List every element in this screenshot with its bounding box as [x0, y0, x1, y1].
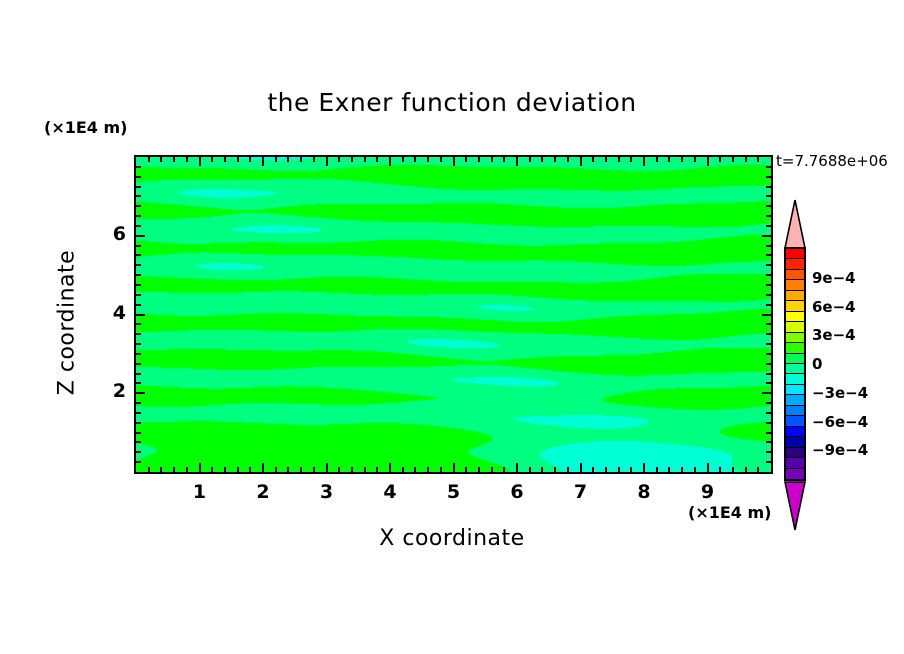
- x-tick-minor: [402, 467, 404, 472]
- x-tick-minor: [541, 467, 543, 472]
- y-tick-minor: [136, 176, 141, 178]
- y-tick-minor: [136, 205, 141, 207]
- colorbar-band: [786, 291, 804, 301]
- x-tick-top-minor: [275, 157, 277, 162]
- y-tick-minor: [136, 432, 141, 434]
- x-tick-label: 1: [185, 481, 215, 503]
- y-tick-right-minor: [766, 373, 771, 375]
- x-tick-minor: [364, 467, 366, 472]
- y-tick-minor: [136, 451, 141, 453]
- colorbar-tick-label: −3e−4: [812, 384, 868, 402]
- colorbar-band: [786, 374, 804, 384]
- x-tick-top-minor: [237, 157, 239, 162]
- y-tick-minor: [136, 294, 141, 296]
- x-tick-minor: [160, 467, 162, 472]
- x-tick-minor: [211, 467, 213, 472]
- x-tick-minor: [757, 467, 759, 472]
- colorbar-band: [786, 469, 804, 479]
- x-tick-major: [707, 463, 709, 472]
- x-tick-minor: [554, 467, 556, 472]
- x-tick-minor: [224, 467, 226, 472]
- y-tick-right-minor: [766, 461, 771, 463]
- x-tick-top-minor: [173, 157, 175, 162]
- x-tick-top-minor: [313, 157, 315, 162]
- x-tick-top-minor: [567, 157, 569, 162]
- x-tick-top-minor: [719, 157, 721, 162]
- y-tick-minor: [136, 353, 141, 355]
- colorbar-band: [786, 343, 804, 353]
- x-tick-top-minor: [402, 157, 404, 162]
- x-tick-major: [199, 463, 201, 472]
- y-tick-minor: [136, 363, 141, 365]
- x-tick-label: 4: [375, 481, 405, 503]
- y-tick-minor: [136, 441, 141, 443]
- x-tick-major: [516, 463, 518, 472]
- x-tick-top-major: [199, 157, 201, 166]
- colorbar-over-arrow-icon: [784, 199, 806, 249]
- colorbar-band: [786, 301, 804, 311]
- x-tick-top-minor: [440, 157, 442, 162]
- y-tick-right-minor: [766, 254, 771, 256]
- y-tick-right-minor: [766, 333, 771, 335]
- y-tick-minor: [136, 333, 141, 335]
- x-tick-top-minor: [592, 157, 594, 162]
- x-tick-minor: [719, 467, 721, 472]
- x-tick-minor: [173, 467, 175, 472]
- colorbar-band: [786, 437, 804, 447]
- y-tick-major: [136, 392, 145, 394]
- x-tick-top-minor: [529, 157, 531, 162]
- x-tick-minor: [529, 467, 531, 472]
- x-tick-top-major: [326, 157, 328, 166]
- colorbar-tick-label: 3e−4: [812, 326, 856, 344]
- colorbar-tick-label: −6e−4: [812, 413, 868, 431]
- colorbar-band: [786, 259, 804, 269]
- y-tick-minor: [136, 422, 141, 424]
- x-tick-minor: [605, 467, 607, 472]
- colorbar-under-arrow-icon: [784, 479, 806, 531]
- colorbar-tick-label: 9e−4: [812, 269, 856, 287]
- x-tick-top-minor: [745, 157, 747, 162]
- time-annotation: t=7.7688e+06: [776, 152, 888, 170]
- x-tick-top-minor: [668, 157, 670, 162]
- y-tick-minor: [136, 186, 141, 188]
- colorbar-band: [786, 249, 804, 259]
- x-tick-minor: [148, 467, 150, 472]
- x-tick-minor: [618, 467, 620, 472]
- x-tick-minor: [681, 467, 683, 472]
- x-tick-minor: [287, 467, 289, 472]
- x-axis-title: X coordinate: [0, 526, 904, 551]
- x-tick-minor: [186, 467, 188, 472]
- x-tick-minor: [592, 467, 594, 472]
- y-tick-minor: [136, 323, 141, 325]
- x-tick-top-minor: [694, 157, 696, 162]
- y-tick-right-minor: [766, 215, 771, 217]
- y-tick-right-minor: [766, 343, 771, 345]
- x-tick-top-major: [516, 157, 518, 166]
- x-tick-top-minor: [300, 157, 302, 162]
- x-tick-top-minor: [503, 157, 505, 162]
- x-tick-major: [389, 463, 391, 472]
- x-tick-top-major: [389, 157, 391, 166]
- x-tick-minor: [300, 467, 302, 472]
- y-tick-right-minor: [766, 294, 771, 296]
- colorbar-tick-label: 0: [812, 355, 822, 373]
- y-tick-minor: [136, 284, 141, 286]
- y-tick-right-minor: [766, 441, 771, 443]
- x-tick-minor: [465, 467, 467, 472]
- y-tick-label: 6: [100, 223, 126, 245]
- x-tick-minor: [478, 467, 480, 472]
- y-tick-minor: [136, 264, 141, 266]
- x-tick-top-minor: [160, 157, 162, 162]
- y-axis-title: Z coordinate: [55, 213, 80, 433]
- x-tick-top-minor: [351, 157, 353, 162]
- y-tick-right-minor: [766, 245, 771, 247]
- x-tick-minor: [249, 467, 251, 472]
- x-tick-top-minor: [541, 157, 543, 162]
- y-tick-right-minor: [766, 451, 771, 453]
- x-tick-minor: [656, 467, 658, 472]
- colorbar-band: [786, 448, 804, 458]
- y-tick-right-minor: [766, 353, 771, 355]
- colorbar-tick-label: −9e−4: [812, 441, 868, 459]
- x-tick-top-minor: [376, 157, 378, 162]
- colorbar-band: [786, 458, 804, 468]
- x-tick-minor: [732, 467, 734, 472]
- y-tick-minor: [136, 254, 141, 256]
- y-tick-right-minor: [766, 225, 771, 227]
- x-tick-major: [580, 463, 582, 472]
- y-tick-right-minor: [766, 195, 771, 197]
- x-tick-top-minor: [605, 157, 607, 162]
- x-tick-minor: [745, 467, 747, 472]
- y-tick-right-major: [762, 314, 771, 316]
- y-axis-units-label: (×1E4 m): [44, 118, 127, 137]
- y-tick-right-minor: [766, 205, 771, 207]
- y-tick-right-minor: [766, 284, 771, 286]
- x-tick-top-minor: [249, 157, 251, 162]
- y-tick-right-minor: [766, 176, 771, 178]
- x-tick-top-minor: [478, 157, 480, 162]
- x-tick-minor: [338, 467, 340, 472]
- page-title: the Exner function deviation: [0, 88, 904, 117]
- x-tick-top-major: [580, 157, 582, 166]
- y-tick-minor: [136, 274, 141, 276]
- colorbar-band: [786, 364, 804, 374]
- y-tick-right-minor: [766, 412, 771, 414]
- x-tick-top-major: [262, 157, 264, 166]
- y-tick-right-minor: [766, 402, 771, 404]
- y-tick-minor: [136, 461, 141, 463]
- x-tick-top-minor: [414, 157, 416, 162]
- x-tick-label: 7: [566, 481, 596, 503]
- y-tick-right-minor: [766, 186, 771, 188]
- x-tick-top-minor: [148, 157, 150, 162]
- x-tick-top-minor: [465, 157, 467, 162]
- colorbar-band: [786, 385, 804, 395]
- x-tick-top-minor: [287, 157, 289, 162]
- x-tick-minor: [237, 467, 239, 472]
- y-tick-right-minor: [766, 264, 771, 266]
- x-tick-top-major: [643, 157, 645, 166]
- colorbar-tick-label: 6e−4: [812, 298, 856, 316]
- colorbar-band: [786, 416, 804, 426]
- x-tick-minor: [414, 467, 416, 472]
- y-tick-minor: [136, 215, 141, 217]
- x-tick-top-minor: [757, 157, 759, 162]
- x-tick-minor: [275, 467, 277, 472]
- y-tick-right-minor: [766, 382, 771, 384]
- x-tick-minor: [668, 467, 670, 472]
- x-tick-minor: [440, 467, 442, 472]
- y-tick-right-minor: [766, 274, 771, 276]
- x-tick-minor: [491, 467, 493, 472]
- colorbar-bands: [784, 247, 806, 481]
- x-tick-minor: [694, 467, 696, 472]
- y-tick-label: 4: [100, 302, 126, 324]
- x-tick-minor: [313, 467, 315, 472]
- x-tick-minor: [567, 467, 569, 472]
- y-tick-minor: [136, 412, 141, 414]
- x-tick-top-minor: [656, 157, 658, 162]
- x-tick-top-minor: [211, 157, 213, 162]
- x-tick-label: 2: [248, 481, 278, 503]
- x-tick-minor: [503, 467, 505, 472]
- x-tick-top-minor: [186, 157, 188, 162]
- y-tick-right-minor: [766, 323, 771, 325]
- x-tick-top-minor: [732, 157, 734, 162]
- x-tick-major: [326, 463, 328, 472]
- x-tick-top-minor: [338, 157, 340, 162]
- x-tick-major: [262, 463, 264, 472]
- x-tick-top-major: [707, 157, 709, 166]
- y-tick-minor: [136, 343, 141, 345]
- x-tick-top-minor: [491, 157, 493, 162]
- y-tick-major: [136, 235, 145, 237]
- y-tick-right-minor: [766, 432, 771, 434]
- x-tick-top-minor: [681, 157, 683, 162]
- x-tick-top-minor: [224, 157, 226, 162]
- x-tick-minor: [427, 467, 429, 472]
- x-tick-label: 8: [629, 481, 659, 503]
- colorbar-band: [786, 395, 804, 405]
- x-tick-top-minor: [427, 157, 429, 162]
- colorbar-band: [786, 333, 804, 343]
- y-tick-right-minor: [766, 422, 771, 424]
- y-tick-right-minor: [766, 166, 771, 168]
- y-tick-minor: [136, 225, 141, 227]
- y-tick-minor: [136, 304, 141, 306]
- y-tick-right-major: [762, 392, 771, 394]
- colorbar-band: [786, 312, 804, 322]
- colorbar-band: [786, 280, 804, 290]
- x-tick-minor: [376, 467, 378, 472]
- colorbar-band: [786, 322, 804, 332]
- x-tick-top-minor: [364, 157, 366, 162]
- y-tick-right-minor: [766, 304, 771, 306]
- x-tick-major: [453, 463, 455, 472]
- x-tick-label: 5: [439, 481, 469, 503]
- y-tick-minor: [136, 166, 141, 168]
- x-tick-minor: [351, 467, 353, 472]
- x-tick-minor: [630, 467, 632, 472]
- y-tick-major: [136, 314, 145, 316]
- y-tick-right-major: [762, 235, 771, 237]
- y-tick-label: 2: [100, 380, 126, 402]
- x-tick-top-minor: [618, 157, 620, 162]
- x-tick-top-minor: [630, 157, 632, 162]
- y-tick-minor: [136, 373, 141, 375]
- colorbar-band: [786, 354, 804, 364]
- y-tick-minor: [136, 402, 141, 404]
- colorbar-band: [786, 427, 804, 437]
- x-tick-top-major: [453, 157, 455, 166]
- x-tick-label: 3: [312, 481, 342, 503]
- y-tick-minor: [136, 195, 141, 197]
- y-tick-minor: [136, 245, 141, 247]
- x-tick-label: 9: [693, 481, 723, 503]
- colorbar-band: [786, 406, 804, 416]
- x-tick-top-minor: [554, 157, 556, 162]
- x-tick-label: 6: [502, 481, 532, 503]
- contour-field: [136, 157, 771, 472]
- y-tick-right-minor: [766, 363, 771, 365]
- colorbar-band: [786, 270, 804, 280]
- x-tick-major: [643, 463, 645, 472]
- x-axis-units-label: (×1E4 m): [688, 503, 771, 522]
- contour-plot-area: [134, 155, 773, 474]
- y-tick-minor: [136, 382, 141, 384]
